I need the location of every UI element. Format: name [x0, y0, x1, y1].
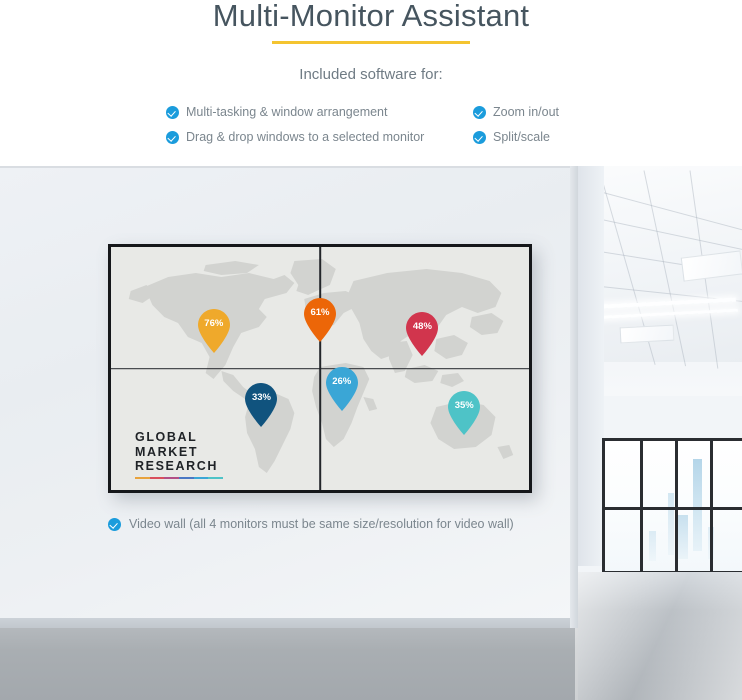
office-interior — [578, 166, 742, 700]
map-pin[interactable]: 76% — [198, 309, 230, 353]
page-title: Multi-Monitor Assistant — [0, 0, 742, 34]
brand-rule-segment — [135, 477, 150, 479]
check-circle-icon — [473, 131, 486, 144]
feature-column-right: Zoom in/out Split/scale — [473, 101, 559, 151]
brand-rule-segment — [208, 477, 223, 479]
window-mullion-vertical — [640, 441, 643, 571]
feature-column-left: Multi-tasking & window arrangement Drag … — [166, 101, 424, 151]
feature-label: Multi-tasking & window arrangement — [186, 106, 387, 119]
office-scene: 76%61%48%33%26%35% GLOBAL MARKET RESEARC… — [0, 166, 742, 700]
caption-label: Video wall (all 4 monitors must be same … — [129, 517, 514, 531]
feature-label: Split/scale — [493, 131, 550, 144]
window-mullion-vertical — [710, 441, 713, 571]
brand-rule-segment — [150, 477, 165, 479]
map-pin-label: 48% — [406, 321, 438, 332]
video-wall-screen[interactable]: 76%61%48%33%26%35% GLOBAL MARKET RESEARC… — [111, 247, 529, 490]
video-wall[interactable]: 76%61%48%33%26%35% GLOBAL MARKET RESEARC… — [108, 244, 532, 493]
window-mullion-vertical — [675, 441, 678, 571]
map-pin-label: 35% — [448, 400, 480, 411]
ceiling-light-panel — [681, 250, 742, 281]
window-wall — [602, 438, 742, 574]
feature-item: Multi-tasking & window arrangement — [166, 101, 424, 124]
ceiling-grid-line — [588, 188, 742, 248]
map-pin[interactable]: 35% — [448, 391, 480, 435]
office-side-wall — [578, 166, 604, 566]
check-circle-icon — [108, 518, 121, 531]
window-mullion-horizontal — [605, 507, 742, 510]
wall-top-edge — [0, 166, 578, 168]
brand-rule-segment — [194, 477, 209, 479]
check-circle-icon — [473, 106, 486, 119]
title-underline-rule — [272, 41, 470, 44]
check-circle-icon — [166, 131, 179, 144]
feature-list: Multi-tasking & window arrangement Drag … — [0, 101, 742, 156]
skyline-tower — [649, 531, 656, 561]
brand-rule-segment — [179, 477, 194, 479]
brand-line: GLOBAL — [135, 430, 223, 445]
map-pin-label: 26% — [326, 376, 358, 387]
brand-line: MARKET — [135, 445, 223, 460]
skyline-tower — [668, 493, 674, 555]
feature-label: Zoom in/out — [493, 106, 559, 119]
video-wall-caption: Video wall (all 4 monitors must be same … — [108, 517, 514, 531]
feature-item: Split/scale — [473, 126, 559, 149]
feature-item: Drag & drop windows to a selected monito… — [166, 126, 424, 149]
skyline-tower — [677, 515, 688, 559]
skyline-tower — [693, 459, 702, 551]
feature-item: Zoom in/out — [473, 101, 559, 124]
map-pin[interactable]: 33% — [245, 383, 277, 427]
map-pin[interactable]: 61% — [304, 298, 336, 342]
ceiling-light-panel — [620, 325, 675, 344]
brand-rule-segment — [164, 477, 179, 479]
check-circle-icon — [166, 106, 179, 119]
map-pin-label: 33% — [245, 392, 277, 403]
subtitle: Included software for: — [0, 66, 742, 83]
page-root: Multi-Monitor Assistant Included softwar… — [0, 0, 742, 700]
office-floor-reflection — [578, 572, 742, 700]
brand-underline-rule — [135, 477, 223, 479]
map-pin-label: 76% — [198, 318, 230, 329]
wall-baseboard — [0, 618, 578, 628]
map-pin-label: 61% — [304, 307, 336, 318]
feature-label: Drag & drop windows to a selected monito… — [186, 131, 424, 144]
map-pin[interactable]: 48% — [406, 312, 438, 356]
brand-line: RESEARCH — [135, 459, 223, 474]
map-pin[interactable]: 26% — [326, 367, 358, 411]
bezel-horizontal — [111, 368, 529, 370]
brand-block: GLOBAL MARKET RESEARCH — [135, 430, 223, 479]
header-panel: Multi-Monitor Assistant Included softwar… — [0, 0, 742, 166]
